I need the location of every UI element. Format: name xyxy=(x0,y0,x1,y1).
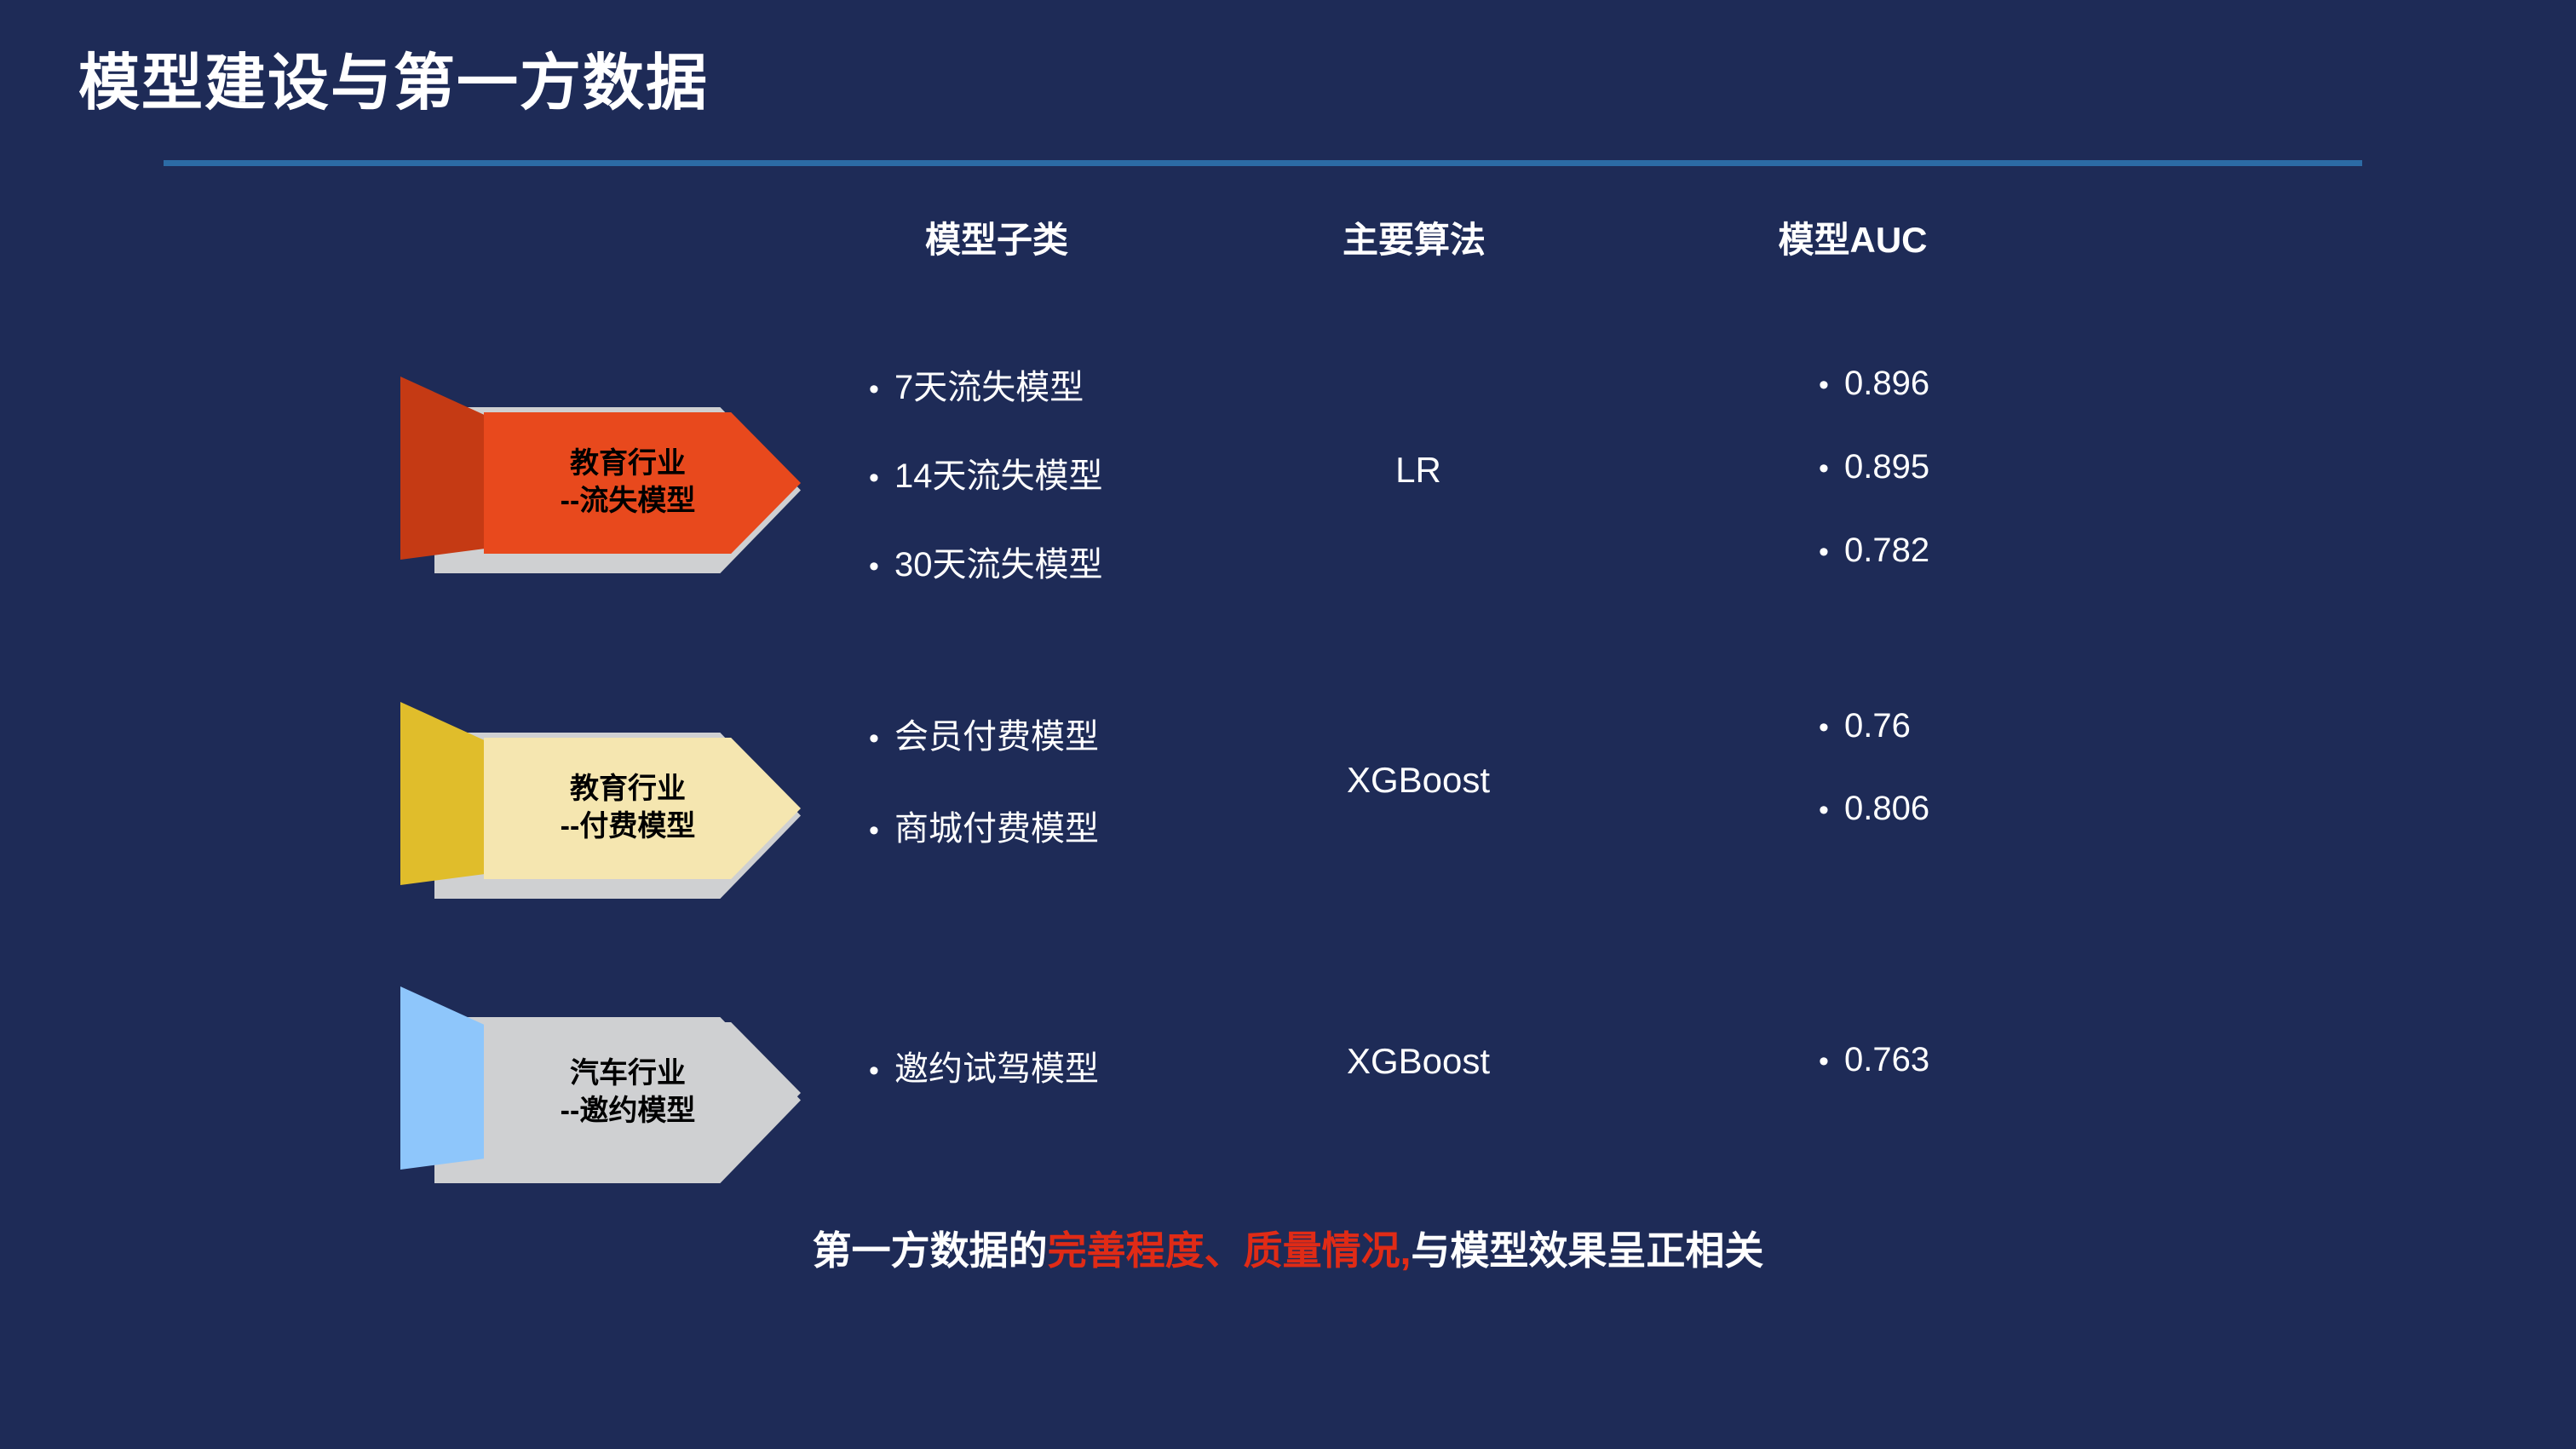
category-banner-education-payment: 教育行业 --付费模型 xyxy=(400,702,801,885)
subtype-list: • 邀约试驾模型 xyxy=(869,1041,1235,1090)
conclusion-suffix: 与模型效果呈正相关 xyxy=(1411,1228,1763,1273)
title-divider xyxy=(164,160,2362,166)
auc-value: 0.806 xyxy=(1844,790,1929,828)
bullet-icon: • xyxy=(869,552,894,581)
list-item: • 0.806 xyxy=(1819,790,2159,828)
bullet-icon: • xyxy=(869,724,894,753)
algorithm-value: XGBoost xyxy=(1235,1041,1601,1082)
page-title: 模型建设与第一方数据 xyxy=(78,32,709,122)
algorithm-value: XGBoost xyxy=(1235,760,1601,801)
column-header-auc: 模型AUC xyxy=(1623,211,2083,263)
bullet-icon: • xyxy=(1819,371,1844,400)
auc-value: 0.782 xyxy=(1844,532,1929,570)
auc-list: • 0.896 • 0.895 • 0.782 xyxy=(1819,365,2159,570)
subtype-list: • 7天流失模型 • 14天流失模型 • 30天流失模型 xyxy=(869,359,1235,586)
auc-value: 0.763 xyxy=(1844,1041,1929,1079)
auc-value: 0.76 xyxy=(1844,707,1911,745)
list-item-label: 30天流失模型 xyxy=(894,537,1103,586)
banner-label: 教育行业 --流失模型 xyxy=(561,446,725,520)
list-item: • 30天流失模型 xyxy=(869,537,1235,586)
auc-list: • 0.763 xyxy=(1819,1041,2159,1079)
list-item: • 7天流失模型 xyxy=(869,359,1235,409)
bullet-icon: • xyxy=(1819,1047,1844,1076)
conclusion-prefix: 第一方数据的 xyxy=(813,1228,1048,1273)
list-item: • 0.763 xyxy=(1819,1041,2159,1079)
list-item-label: 邀约试驾模型 xyxy=(894,1041,1099,1090)
list-item: • 会员付费模型 xyxy=(869,709,1235,758)
list-item: • 0.782 xyxy=(1819,532,2159,570)
slide: 模型建设与第一方数据 模型子类 主要算法 模型AUC 教育行业 --流失模型 •… xyxy=(0,0,2576,1449)
list-item: • 14天流失模型 xyxy=(869,448,1235,497)
subtype-list: • 会员付费模型 • 商城付费模型 xyxy=(869,709,1235,850)
list-item-label: 商城付费模型 xyxy=(894,801,1099,850)
category-banner-education-churn: 教育行业 --流失模型 xyxy=(400,377,801,560)
bullet-icon: • xyxy=(1819,454,1844,483)
banner-label: 教育行业 --付费模型 xyxy=(561,771,725,845)
table-row: 教育行业 --流失模型 • 7天流失模型 • 14天流失模型 • 30天流失模型… xyxy=(0,341,2576,622)
list-item: • 0.895 xyxy=(1819,448,2159,486)
category-banner-auto-invite: 汽车行业 --邀约模型 xyxy=(400,986,801,1170)
table-row: 汽车行业 --邀约模型 • 邀约试驾模型 XGBoost • 0.763 xyxy=(0,963,2576,1159)
table-row: 教育行业 --付费模型 • 会员付费模型 • 商城付费模型 XGBoost • … xyxy=(0,690,2576,903)
list-item: • 0.896 xyxy=(1819,365,2159,403)
bullet-icon: • xyxy=(1819,713,1844,742)
list-item: • 商城付费模型 xyxy=(869,801,1235,850)
auc-value: 0.895 xyxy=(1844,448,1929,486)
column-header-algorithm: 主要算法 xyxy=(1235,211,1593,263)
bullet-icon: • xyxy=(869,816,894,845)
bullet-icon: • xyxy=(1819,796,1844,825)
list-item-label: 会员付费模型 xyxy=(894,709,1099,758)
column-header-subtype: 模型子类 xyxy=(818,211,1176,263)
bullet-icon: • xyxy=(869,1056,894,1085)
bullet-icon: • xyxy=(1819,538,1844,566)
auc-value: 0.896 xyxy=(1844,365,1929,403)
bullet-icon: • xyxy=(869,375,894,404)
algorithm-value: LR xyxy=(1235,450,1601,491)
list-item-label: 7天流失模型 xyxy=(894,359,1084,409)
bullet-icon: • xyxy=(869,463,894,492)
list-item: • 邀约试驾模型 xyxy=(869,1041,1235,1090)
auc-list: • 0.76 • 0.806 xyxy=(1819,707,2159,828)
list-item-label: 14天流失模型 xyxy=(894,448,1103,497)
conclusion-highlight: 完善程度、质量情况, xyxy=(1048,1228,1412,1273)
conclusion-text: 第一方数据的完善程度、质量情况,与模型效果呈正相关 xyxy=(0,1220,2576,1276)
banner-label: 汽车行业 --邀约模型 xyxy=(561,1055,725,1130)
list-item: • 0.76 xyxy=(1819,707,2159,745)
